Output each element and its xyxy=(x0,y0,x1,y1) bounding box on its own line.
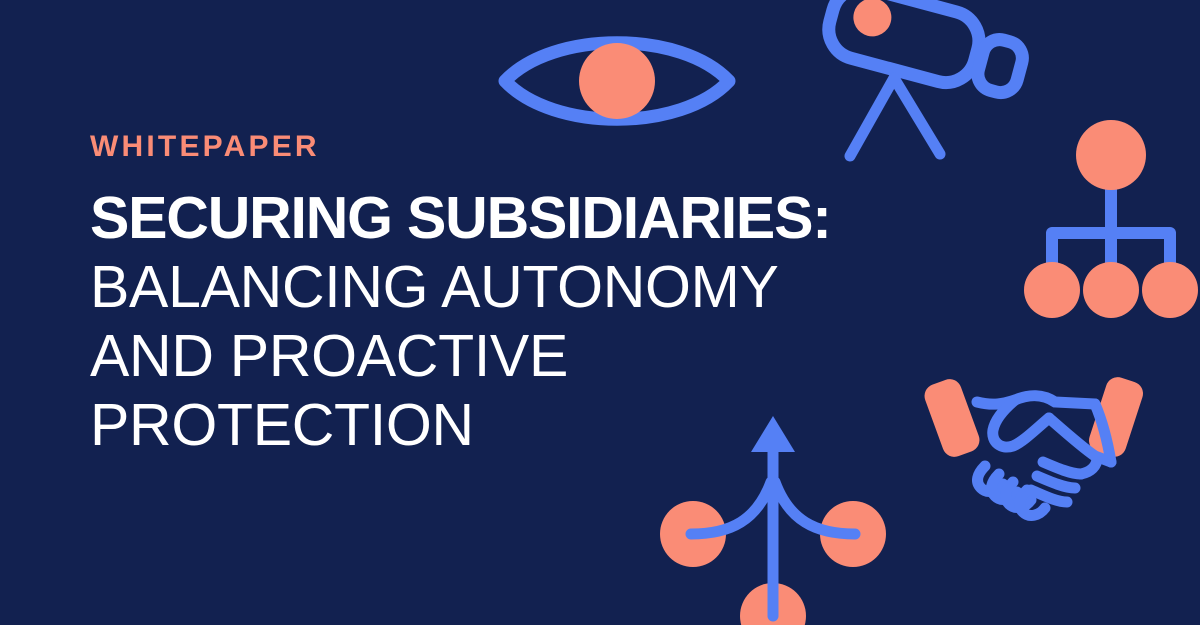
eye-icon xyxy=(495,22,739,140)
telescope-icon xyxy=(812,0,1028,148)
eyebrow-label: WHITEPAPER xyxy=(90,132,1050,162)
page-title: SECURING SUBSIDIARIES: BALANCING AUTONOM… xyxy=(90,184,1050,460)
title-line-1: SECURING SUBSIDIARIES: xyxy=(90,184,1050,253)
org-node-child-3 xyxy=(1142,262,1198,318)
title-line-3: AND PROACTIVE xyxy=(90,322,1050,391)
title-line-4: PROTECTION xyxy=(90,391,1050,460)
hero-text-block: WHITEPAPER SECURING SUBSIDIARIES: BALANC… xyxy=(90,132,1050,460)
org-node-parent xyxy=(1076,120,1146,190)
org-node-child-2 xyxy=(1083,262,1139,318)
whitepaper-hero-banner: WHITEPAPER SECURING SUBSIDIARIES: BALANC… xyxy=(0,0,1200,625)
title-line-2: BALANCING AUTONOMY xyxy=(90,253,1050,322)
